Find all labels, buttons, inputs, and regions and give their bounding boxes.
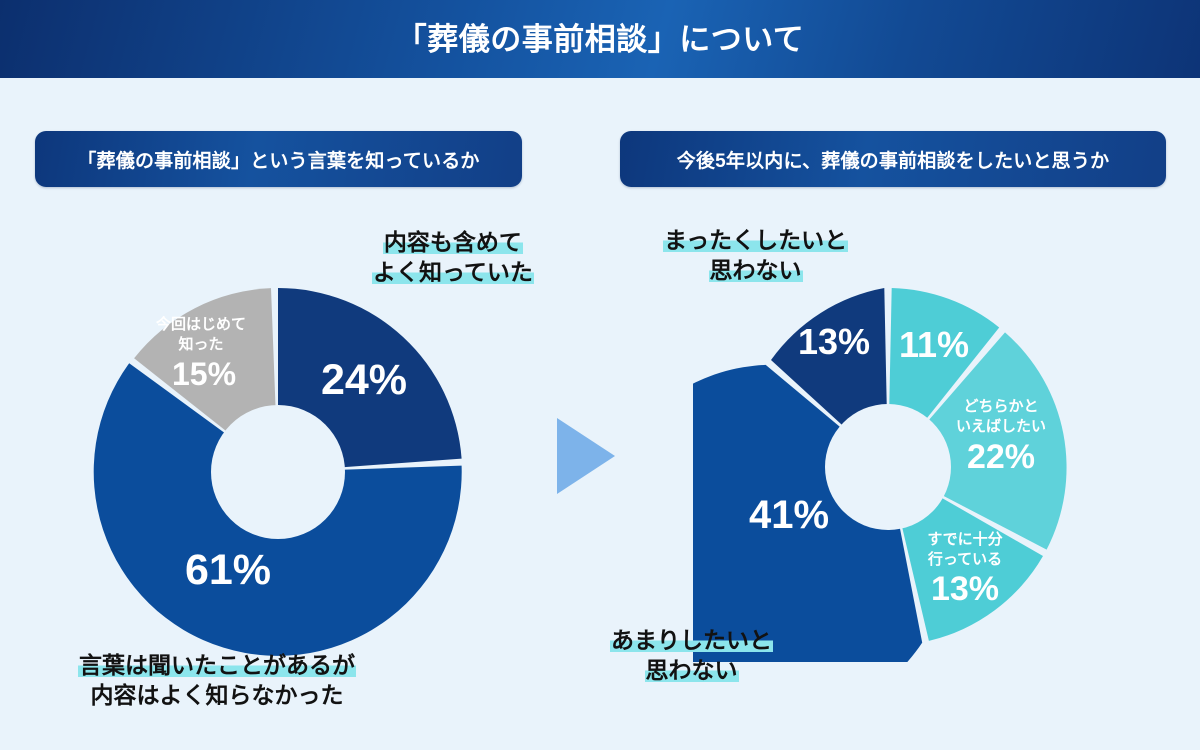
callout-never-line1: まったくしたいと [663, 227, 848, 253]
donut-hole [825, 404, 951, 530]
right-donut-chart: 11% 13% 41% どちらかと いえばしたい 22% すでに十分 行っている… [693, 272, 1083, 662]
left-slice-value-first-time: 15% [172, 356, 236, 392]
right-slice-value-already-doing: 13% [931, 570, 999, 608]
left-slice-value-known: 24% [321, 356, 407, 404]
callout-known-line1: 内容も含めて [383, 229, 523, 255]
left-donut-chart: 24% 61% 今回はじめて 知った 15% [78, 272, 478, 672]
right-slice-label-rather-want-line1: どちらかと [963, 398, 1038, 415]
right-slice-label-already-line2: 行っている [927, 550, 1002, 568]
right-section-banner-label: 今後5年以内に、葬儀の事前相談をしたいと思うか [677, 146, 1110, 173]
donut-hole [211, 405, 345, 539]
callout-known-line2: よく知っていた [372, 259, 534, 285]
callout-never-line2: 思わない [709, 257, 803, 283]
right-slice-label-rather-want-line2: いえばしたい [956, 418, 1046, 435]
callout-heard-line2: 内容はよく知らなかった [91, 682, 344, 708]
left-slice-value-heard: 61% [185, 546, 271, 594]
right-slice-value-rather-want: 22% [967, 438, 1035, 476]
callout-not-much: あまりしたいと 思わない [610, 626, 773, 686]
right-slice-value-never: 13% [798, 321, 870, 362]
left-section-banner: 「葬儀の事前相談」という言葉を知っているか [35, 131, 522, 187]
right-slice-value-already-enough-top: 11% [899, 324, 969, 365]
callout-heard-line1: 言葉は聞いたことがあるが [78, 652, 356, 678]
left-slice-label-first-time-line2: 知った [178, 335, 223, 353]
callout-heard: 言葉は聞いたことがあるが 内容はよく知らなかった [78, 651, 356, 711]
callout-known: 内容も含めて よく知っていた [372, 228, 534, 288]
left-slice-label-first-time-line1: 今回はじめて [155, 315, 246, 333]
right-slice-value-not-much: 41% [749, 493, 829, 537]
right-section-banner: 今後5年以内に、葬儀の事前相談をしたいと思うか [620, 131, 1166, 187]
left-section-banner-label: 「葬儀の事前相談」という言葉を知っているか [77, 146, 479, 173]
callout-not-much-line2: 思わない [645, 657, 739, 683]
page-header: 「葬儀の事前相談」について [0, 0, 1200, 78]
callout-never: まったくしたいと 思わない [663, 226, 848, 286]
right-slice-label-already-line1: すでに十分 [927, 530, 1002, 548]
page-title: 「葬儀の事前相談」について [396, 24, 805, 55]
callout-not-much-line1: あまりしたいと [610, 627, 773, 653]
